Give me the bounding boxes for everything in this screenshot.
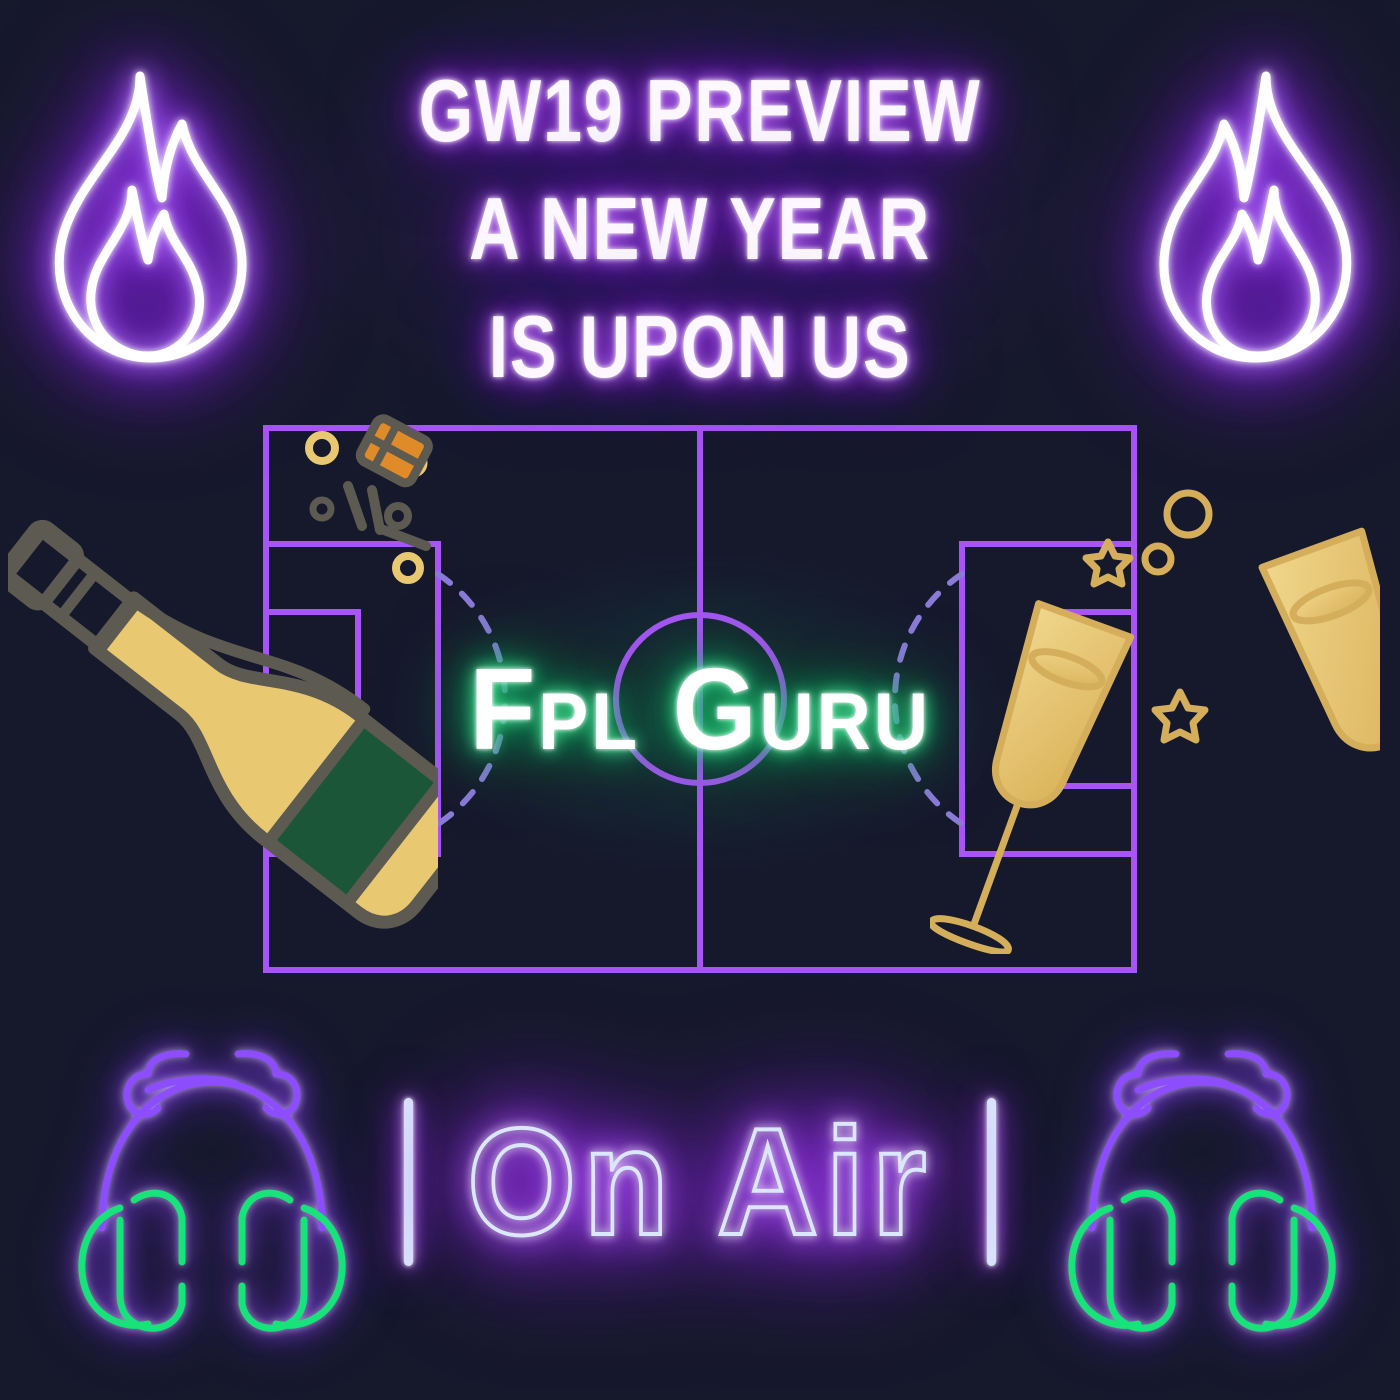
on-air-text: On Air — [467, 1098, 933, 1266]
poster-title: GW19 PREVIEW A NEW YEAR IS UPON US — [0, 52, 1400, 406]
neon-bar-right — [987, 1098, 996, 1266]
on-air-sign: On Air — [0, 1098, 1400, 1266]
poster-canvas: GW19 PREVIEW A NEW YEAR IS UPON US — [0, 0, 1400, 1400]
neon-bar-left — [404, 1098, 413, 1266]
title-line-1: GW19 PREVIEW — [140, 52, 1260, 170]
title-line-3: IS UPON US — [140, 288, 1260, 406]
clinking-glasses-icon — [930, 474, 1380, 959]
title-line-2: A NEW YEAR — [140, 170, 1260, 288]
brand-logo-text: Fpl Guru — [469, 648, 931, 770]
confetti-group — [280, 408, 560, 613]
